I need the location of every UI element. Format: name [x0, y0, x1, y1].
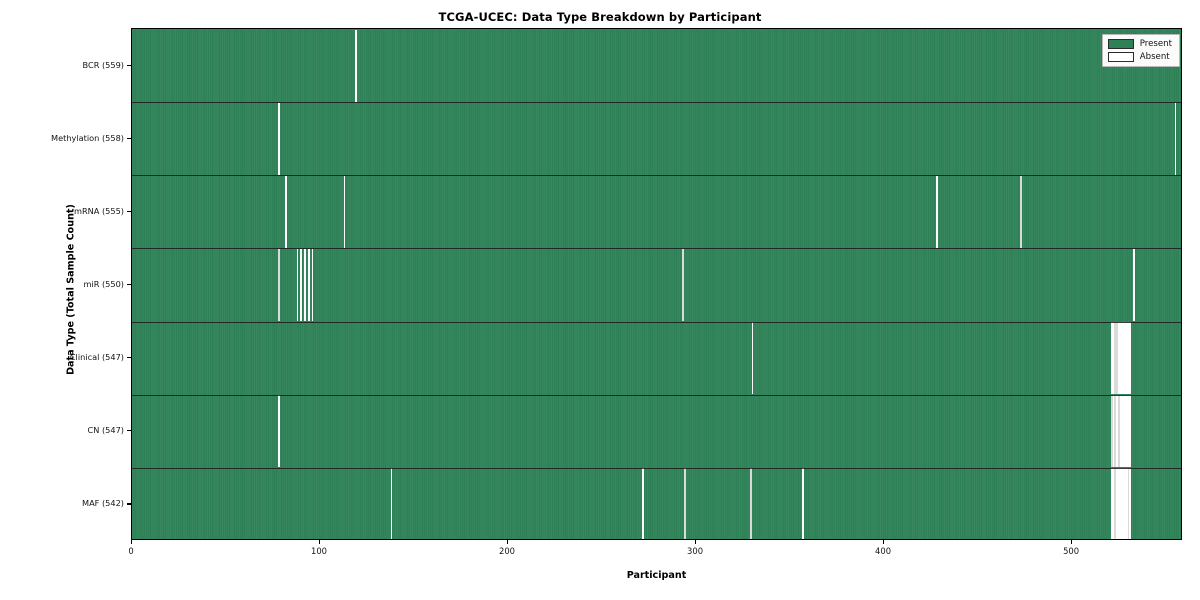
y-tick-label-mir: miR (550): [0, 279, 124, 289]
row-separator: [132, 322, 1181, 323]
legend-label-present: Present: [1140, 39, 1172, 49]
x-tick-mark: [131, 540, 132, 544]
chart-title: TCGA-UCEC: Data Type Breakdown by Partic…: [0, 10, 1200, 24]
figure: TCGA-UCEC: Data Type Breakdown by Partic…: [0, 0, 1200, 600]
legend-swatch-present: [1108, 39, 1134, 49]
legend-swatch-absent: [1108, 52, 1134, 62]
x-tick-mark: [507, 540, 508, 544]
x-tick-label: 400: [875, 546, 891, 556]
x-tick-label: 500: [1063, 546, 1079, 556]
x-tick-mark: [1071, 540, 1072, 544]
x-tick-mark: [319, 540, 320, 544]
heatmap-plot-area: [131, 28, 1182, 540]
x-tick-mark: [883, 540, 884, 544]
row-separator: [132, 175, 1181, 176]
y-tick-mark: [127, 284, 131, 285]
y-tick-label-clinical: Clinical (547): [0, 352, 124, 362]
legend: Present Absent: [1102, 34, 1180, 67]
x-tick-mark: [695, 540, 696, 544]
row-separator: [132, 248, 1181, 249]
row-separator: [132, 395, 1181, 396]
y-tick-label-maf: MAF (542): [0, 498, 124, 508]
x-tick-label: 0: [128, 546, 133, 556]
x-tick-label: 200: [499, 546, 515, 556]
x-axis-title: Participant: [131, 570, 1182, 581]
y-axis-title: Data Type (Total Sample Count): [66, 180, 77, 400]
x-tick-label: 100: [311, 546, 327, 556]
row-separators: [132, 29, 1181, 539]
legend-label-absent: Absent: [1140, 52, 1170, 62]
y-tick-mark: [127, 430, 131, 431]
y-tick-label-methylation: Methylation (558): [0, 133, 124, 143]
y-tick-mark: [127, 211, 131, 212]
x-tick-label: 300: [687, 546, 703, 556]
y-tick-mark: [127, 357, 131, 358]
legend-item-present: Present: [1108, 39, 1172, 49]
y-tick-mark: [127, 65, 131, 66]
y-tick-mark: [127, 503, 131, 504]
y-tick-label-mrna: mRNA (555): [0, 206, 124, 216]
y-tick-label-cn: CN (547): [0, 425, 124, 435]
row-separator: [132, 102, 1181, 103]
row-separator: [132, 468, 1181, 469]
legend-item-absent: Absent: [1108, 52, 1172, 62]
y-tick-label-bcr: BCR (559): [0, 60, 124, 70]
y-tick-mark: [127, 138, 131, 139]
